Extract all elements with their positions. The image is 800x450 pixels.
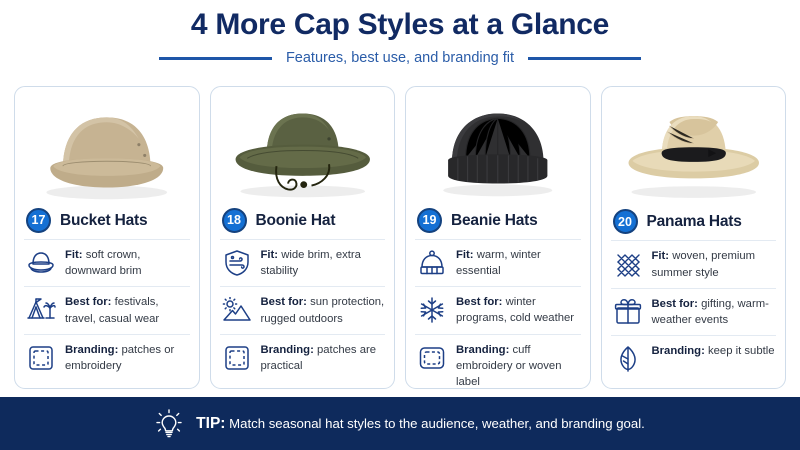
lightbulb-icon <box>155 409 183 439</box>
card-title: Boonie Hat <box>256 212 336 230</box>
sun-mountain-icon <box>222 295 252 325</box>
gift-box-icon <box>613 297 643 327</box>
feature-label: Best for: <box>261 296 307 308</box>
card-panama-hats[interactable]: 20 Panama Hats Fit: woven, premium summe… <box>601 86 787 389</box>
feature-label: Fit: <box>652 250 670 262</box>
feature-best-for: Best for: gifting, warm-weather events <box>611 288 777 335</box>
feature-text: Best for: festivals, travel, casual wear <box>65 294 190 326</box>
feature-fit: Fit: woven, premium summer style <box>611 240 777 287</box>
card-title: Bucket Hats <box>60 212 147 230</box>
feature-label: Branding: <box>456 344 509 356</box>
feature-text: Fit: woven, premium summer style <box>652 248 777 280</box>
feature-fit: Fit: wide brim, extra stability <box>220 239 386 286</box>
feature-label: Fit: <box>456 249 474 261</box>
card-number-badge: 18 <box>222 208 247 233</box>
feature-best-for: Best for: winter programs, cold weather <box>415 286 581 333</box>
feature-text: Branding: patches or embroidery <box>65 342 190 374</box>
feature-label: Best for: <box>456 296 502 308</box>
patch-dashed-square-icon <box>222 343 252 373</box>
feature-text: Fit: warm, winter essential <box>456 247 581 279</box>
card-number-badge: 19 <box>417 208 442 233</box>
card-title: Beanie Hats <box>451 212 538 230</box>
beanie-hat-photo <box>415 94 581 203</box>
subtitle-row: Features, best use, and branding fit <box>0 50 800 66</box>
tip-text: TIP: Match seasonal hat styles to the au… <box>196 415 645 433</box>
card-heading: 18 Boonie Hat <box>220 207 386 239</box>
feature-text: Fit: soft crown, downward brim <box>65 247 190 279</box>
feature-branding: Branding: patches or embroidery <box>24 334 190 381</box>
feature-branding: Branding: patches are practical <box>220 334 386 381</box>
card-bucket-hats[interactable]: 17 Bucket Hats Fit: soft crown, downward… <box>14 86 200 389</box>
shield-wind-icon <box>222 248 252 278</box>
page-title: 4 More Cap Styles at a Glance <box>0 9 800 41</box>
feature-label: Fit: <box>65 249 83 261</box>
woven-label-icon <box>417 343 447 373</box>
feature-text: Branding: keep it subtle <box>652 343 775 359</box>
card-grid: 17 Bucket Hats Fit: soft crown, downward… <box>14 86 786 389</box>
feature-text: Branding: patches are practical <box>261 342 386 374</box>
boonie-hat-photo <box>220 94 386 203</box>
rule-left <box>159 57 272 60</box>
feature-label: Branding: <box>261 344 314 356</box>
card-beanie-hats[interactable]: 19 Beanie Hats Fit: warm, winter essenti… <box>405 86 591 389</box>
snowflake-icon <box>417 295 447 325</box>
beanie-icon <box>417 248 447 278</box>
feature-label: Branding: <box>65 344 118 356</box>
tip-label: TIP: <box>196 415 225 432</box>
feature-label: Branding: <box>652 345 705 357</box>
feature-text: Best for: gifting, warm-weather events <box>652 296 777 328</box>
card-boonie-hat[interactable]: 18 Boonie Hat Fit: wide brim, extra stab… <box>210 86 396 389</box>
header: 4 More Cap Styles at a Glance Features, … <box>0 0 800 66</box>
feature-best-for: Best for: sun protection, rugged outdoor… <box>220 286 386 333</box>
panama-hat-photo <box>611 94 777 204</box>
patch-dashed-square-icon <box>26 343 56 373</box>
bucket-hat-icon <box>26 248 56 278</box>
feature-branding: Branding: keep it subtle <box>611 335 777 381</box>
feature-text: Branding: cuff embroidery or woven label <box>456 342 581 390</box>
card-number-badge: 17 <box>26 208 51 233</box>
feature-branding: Branding: cuff embroidery or woven label <box>415 334 581 397</box>
feature-text: Fit: wide brim, extra stability <box>261 247 386 279</box>
card-title: Panama Hats <box>647 213 742 231</box>
feature-fit: Fit: soft crown, downward brim <box>24 239 190 286</box>
card-heading: 19 Beanie Hats <box>415 207 581 239</box>
feature-label: Best for: <box>65 296 111 308</box>
tip-message: Match seasonal hat styles to the audienc… <box>229 416 645 431</box>
feature-best-for: Best for: festivals, travel, casual wear <box>24 286 190 333</box>
feature-fit: Fit: warm, winter essential <box>415 239 581 286</box>
feature-label: Fit: <box>261 249 279 261</box>
rule-right <box>528 57 641 60</box>
feature-label: Best for: <box>652 298 698 310</box>
feature-text: Best for: sun protection, rugged outdoor… <box>261 294 386 326</box>
tent-palm-icon <box>26 295 56 325</box>
bucket-hat-photo <box>24 94 190 203</box>
tip-bar: TIP: Match seasonal hat styles to the au… <box>0 397 800 450</box>
page-subtitle: Features, best use, and branding fit <box>286 50 514 66</box>
leaf-icon <box>613 344 643 374</box>
card-heading: 17 Bucket Hats <box>24 207 190 239</box>
card-number-badge: 20 <box>613 209 638 234</box>
card-heading: 20 Panama Hats <box>611 208 777 240</box>
feature-value: keep it subtle <box>708 345 775 357</box>
weave-lattice-icon <box>613 249 643 279</box>
feature-text: Best for: winter programs, cold weather <box>456 294 581 326</box>
